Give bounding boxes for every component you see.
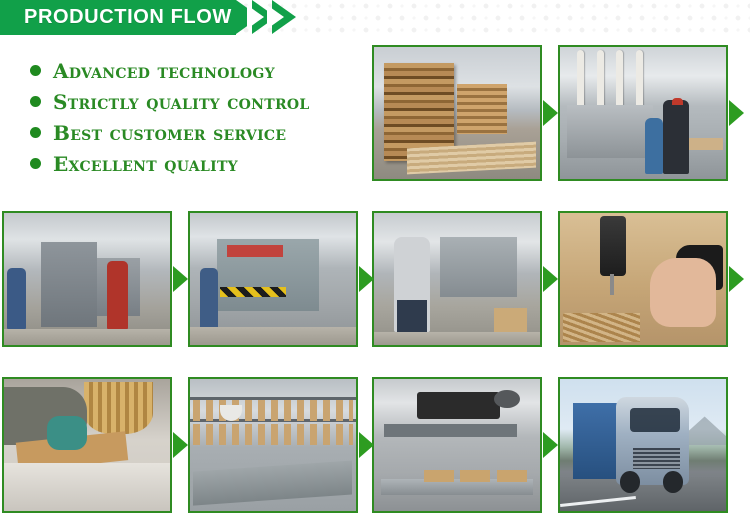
work-table	[4, 463, 170, 511]
hazard-stripe	[220, 287, 286, 298]
photo-image	[374, 213, 540, 345]
feature-item-1: Advanced technology	[30, 55, 360, 86]
flow-photo-delivery-truck	[558, 377, 728, 513]
flow-photo-panel-cutting	[2, 211, 172, 347]
worker-cap	[672, 98, 683, 105]
bullet-dot-icon	[30, 65, 41, 76]
film-roller	[494, 390, 521, 408]
windshield	[630, 408, 680, 432]
page-title: PRODUCTION FLOW	[0, 0, 232, 35]
feature-label: Excellent quality	[53, 152, 238, 176]
conveyor-deck	[193, 461, 352, 506]
pallet-stack-back	[457, 84, 507, 134]
bullet-dot-icon	[30, 158, 41, 169]
product-box	[494, 308, 527, 334]
flow-arrow-icon	[543, 432, 558, 458]
wrapping-hood	[417, 392, 500, 418]
flow-photo-drying-racks	[188, 377, 358, 513]
truck-wheel	[620, 471, 640, 492]
radiator-grille	[633, 448, 679, 469]
flow-arrow-icon	[729, 100, 744, 126]
flow-arrow-icon	[543, 266, 558, 292]
flow-arrow-icon	[729, 266, 744, 292]
flow-arrow-icon	[173, 266, 188, 292]
packed-panel	[460, 470, 490, 482]
photo-image	[4, 213, 170, 345]
flow-arrow-icon	[173, 432, 188, 458]
flow-photo-glue-spreading-line	[558, 45, 728, 181]
feature-list: Advanced technology Strictly quality con…	[30, 55, 360, 179]
packed-panel	[424, 470, 454, 482]
cutting-machine	[41, 242, 97, 326]
feature-label: Strictly quality control	[53, 90, 310, 114]
drill-head	[600, 216, 627, 277]
photo-image	[560, 47, 726, 179]
photo-image	[374, 47, 540, 179]
glue-machine	[567, 105, 653, 158]
photo-image	[560, 379, 726, 511]
production-flow-page: PRODUCTION FLOW Advanced technology Stri…	[0, 0, 750, 525]
feature-label: Best customer service	[53, 121, 286, 145]
flow-photo-sanding	[2, 377, 172, 513]
machine-sign	[227, 245, 283, 257]
bullet-dot-icon	[30, 96, 41, 107]
flow-photo-hot-press	[188, 211, 358, 347]
flow-photo-assembly-bench	[372, 211, 542, 347]
feature-label: Advanced technology	[53, 59, 275, 83]
banner-chevron-icon-2	[272, 0, 296, 34]
flow-arrow-icon	[359, 432, 374, 458]
wood-shavings	[563, 313, 639, 342]
worker-hand	[650, 258, 716, 327]
sanding-wheel	[84, 382, 154, 435]
bullet-dot-icon	[30, 127, 41, 138]
worker-figure	[663, 100, 690, 174]
photo-image	[190, 213, 356, 345]
flow-arrow-icon	[543, 100, 558, 126]
worker-figure	[7, 268, 25, 329]
feature-item-2: Strictly quality control	[30, 86, 360, 117]
production-flow-banner: PRODUCTION FLOW	[0, 0, 236, 35]
photo-image	[190, 379, 356, 511]
bench-machine	[440, 237, 516, 298]
worker-glove	[47, 416, 87, 450]
drill-bit	[610, 274, 614, 295]
flow-photo-packing-line	[372, 377, 542, 513]
worker-figure	[645, 118, 663, 173]
photo-image	[560, 213, 726, 345]
feature-item-3: Best customer service	[30, 117, 360, 148]
packed-panel	[497, 470, 527, 482]
photo-image	[4, 379, 170, 511]
flow-arrow-icon	[359, 266, 374, 292]
worker-figure	[200, 268, 218, 334]
truck-wheel	[663, 471, 683, 492]
flow-photo-raw-material-pallets	[372, 45, 542, 181]
machine-frame	[384, 424, 517, 437]
flow-photo-drilling	[558, 211, 728, 347]
feature-item-4: Excellent quality	[30, 148, 360, 179]
worker-figure	[107, 261, 129, 330]
photo-image	[374, 379, 540, 511]
